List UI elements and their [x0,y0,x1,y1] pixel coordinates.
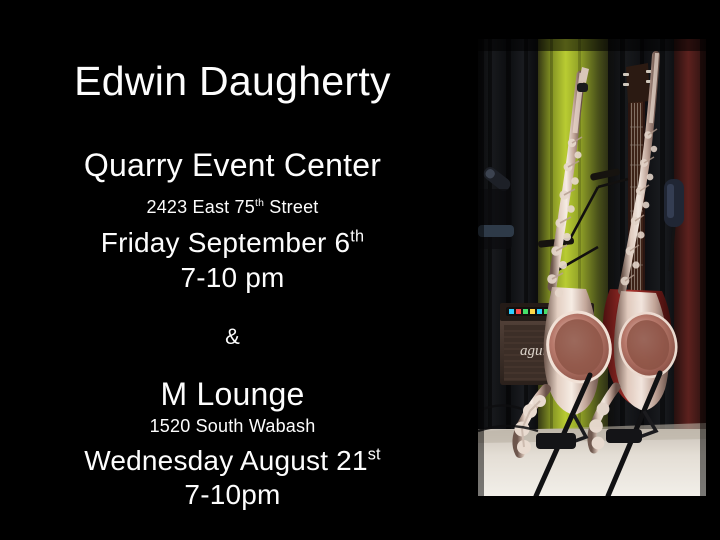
stage-photo-saxophones: aguilar [478,39,706,496]
artist-name: Edwin Daugherty [0,58,465,104]
venue-address-1: 2423 East 75th Street [0,196,465,218]
venue-address-1-main: 2423 East 75 [146,197,254,217]
venue-name-2: M Lounge [0,375,465,413]
event-date-2-ordinal: st [368,446,381,464]
venue-address-2-main: 1520 South Wabash [150,416,316,436]
event-date-1-ordinal: th [350,228,364,246]
event-time-2: 7-10pm [0,478,465,512]
venue-address-2: 1520 South Wabash [0,415,465,437]
venue-address-1-tail: Street [264,197,318,217]
event-date-2: Wednesday August 21st [0,444,465,478]
venue-address-1-ordinal: th [255,198,264,209]
event-date-1-main: Friday September 6 [101,227,351,258]
event-date-1: Friday September 6th [0,226,465,260]
event-time-1: 7-10 pm [0,261,465,295]
poster-text-column: Edwin Daugherty Quarry Event Center 2423… [0,0,465,540]
event-separator-ampersand: & [0,324,465,350]
gig-poster: Edwin Daugherty Quarry Event Center 2423… [0,0,720,540]
venue-name-1: Quarry Event Center [0,146,465,184]
event-date-2-main: Wednesday August 21 [84,445,368,476]
